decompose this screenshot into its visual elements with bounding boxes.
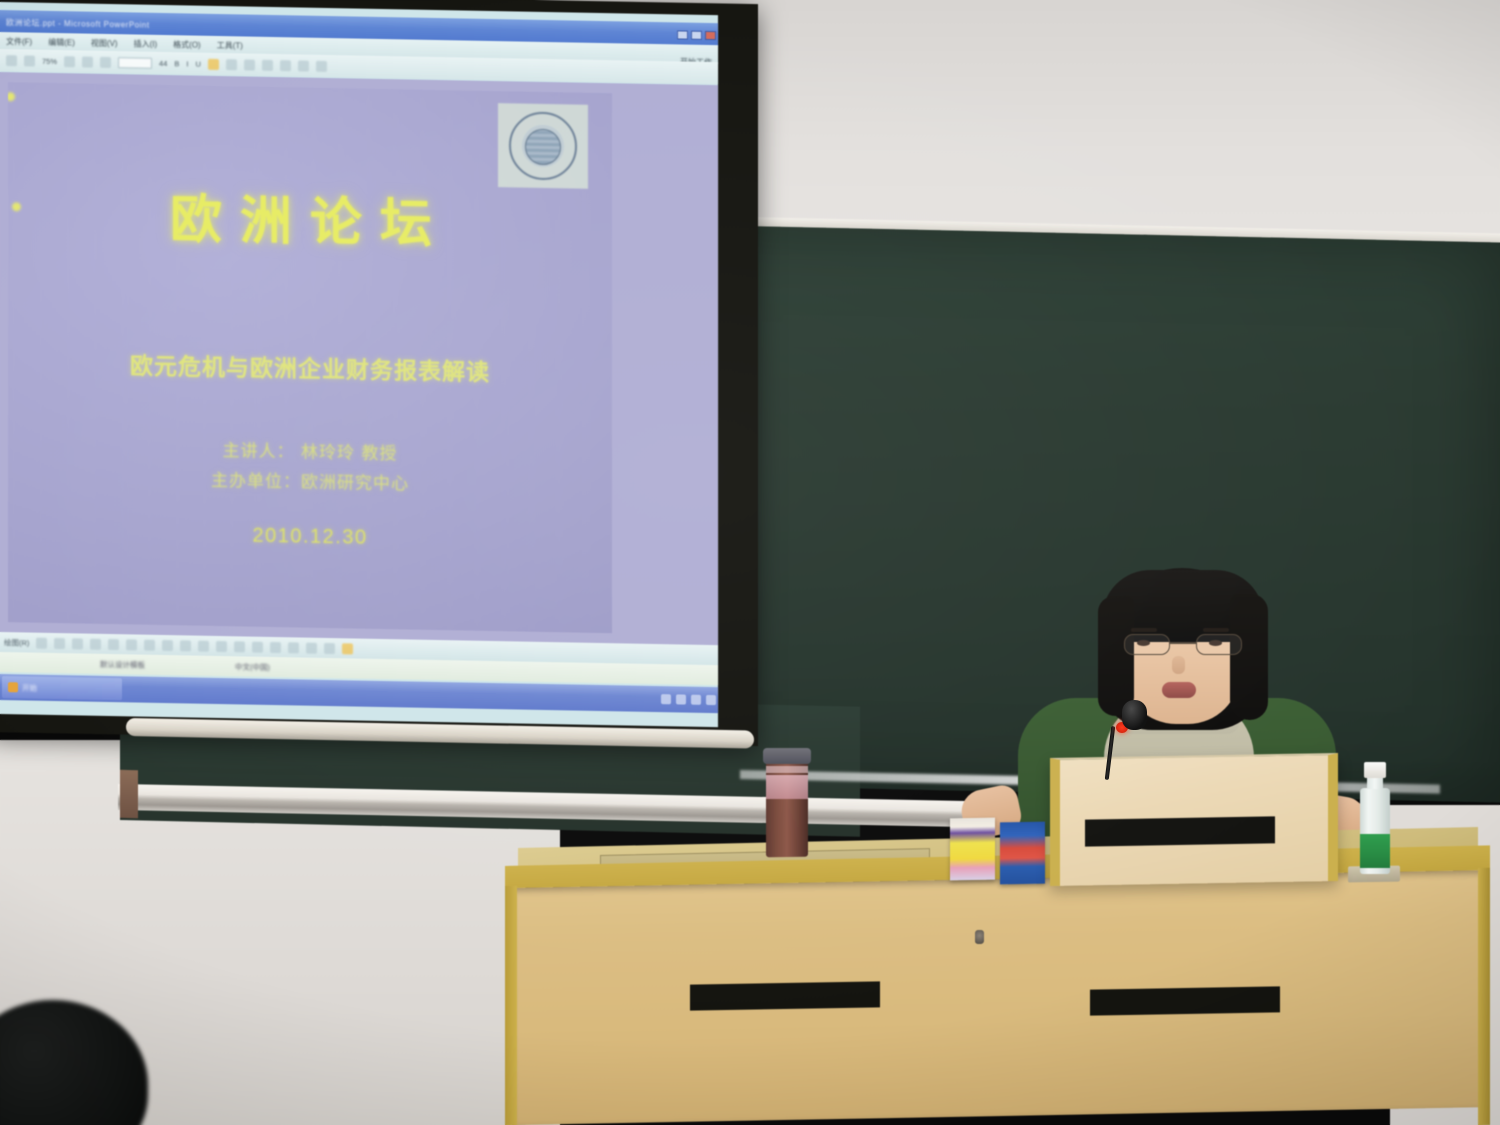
3d-style-icon[interactable]	[342, 643, 353, 654]
italic-button[interactable]: I	[186, 59, 188, 68]
line-icon[interactable]	[72, 638, 83, 649]
open-icon[interactable]	[24, 55, 35, 66]
bottle-label	[1360, 834, 1390, 868]
start-button[interactable]: 开始	[2, 676, 122, 700]
zoom-level[interactable]: 75%	[42, 56, 57, 65]
slide-subtitle: 欧元危机与欧洲企业财务报表解读	[8, 344, 612, 389]
menu-file[interactable]: 文件(F)	[6, 36, 32, 47]
lecture-hall-photo: 欧洲论坛.ppt - Microsoft PowerPoint 文件(F) 编辑…	[0, 0, 1500, 1125]
glasses-bridge	[1170, 642, 1196, 644]
system-tray[interactable]	[661, 694, 716, 705]
lens-left	[1124, 634, 1170, 655]
status-template: 默认设计模板	[100, 658, 145, 670]
chart-icon[interactable]	[100, 56, 111, 67]
shadow-style-icon[interactable]	[324, 642, 335, 653]
thermos-lid	[763, 748, 811, 764]
desk-edge-left	[505, 886, 517, 1125]
network-icon[interactable]	[691, 695, 701, 705]
redo-icon[interactable]	[82, 56, 93, 67]
wordart-icon[interactable]	[162, 639, 173, 650]
slide-organizer-line: 主办单位：欧洲研究中心	[8, 462, 612, 498]
volume-icon[interactable]	[676, 694, 686, 704]
menu-edit[interactable]: 编辑(E)	[48, 37, 75, 48]
diagram-icon[interactable]	[180, 640, 191, 651]
shadow-button[interactable]	[208, 58, 219, 69]
hair-side-right	[1230, 594, 1268, 720]
picture-icon[interactable]	[216, 640, 227, 651]
thermos-upper-band	[766, 766, 808, 773]
oval-icon[interactable]	[126, 639, 137, 650]
desk-handle-right[interactable]	[1090, 986, 1280, 1015]
fill-color-icon[interactable]	[234, 641, 245, 652]
menu-format[interactable]: 格式(O)	[173, 39, 201, 51]
chalk-rail-bracket	[120, 770, 138, 818]
dash-style-icon[interactable]	[306, 642, 317, 653]
eyebrow-left	[1131, 628, 1157, 632]
autoshapes-icon[interactable]	[54, 637, 65, 648]
lens-right	[1196, 634, 1242, 655]
desk-lock-icon[interactable]	[975, 930, 984, 944]
desk-front-panel	[512, 870, 1484, 1125]
bottle-cap	[1364, 762, 1386, 778]
bold-button[interactable]: B	[174, 59, 179, 68]
globe-seal-icon	[509, 111, 577, 180]
desk-handle-left[interactable]	[690, 981, 880, 1010]
university-seal-logo	[498, 103, 588, 189]
new-slide-icon[interactable]	[316, 60, 327, 71]
nose	[1172, 656, 1185, 674]
ppt-window-title: 欧洲论坛.ppt - Microsoft PowerPoint	[6, 17, 150, 31]
font-name-box[interactable]	[118, 57, 152, 69]
draw-menu[interactable]: 绘图(R)	[4, 637, 29, 648]
font-color-icon[interactable]	[270, 641, 281, 652]
new-icon[interactable]	[6, 55, 17, 66]
align-center-icon[interactable]	[244, 59, 255, 70]
font-size-box[interactable]: 44	[159, 58, 167, 67]
eyeglasses-icon	[1122, 634, 1244, 656]
mouth	[1162, 682, 1196, 698]
select-icon[interactable]	[36, 637, 47, 648]
window-controls[interactable]	[677, 30, 716, 40]
design-icon[interactable]	[298, 60, 309, 71]
microphone-head	[1122, 700, 1147, 730]
maximize-icon[interactable]	[691, 30, 702, 39]
projected-desktop: 欧洲论坛.ppt - Microsoft PowerPoint 文件(F) 编辑…	[0, 2, 718, 727]
clipart-icon[interactable]	[198, 640, 209, 651]
hair-side-left	[1098, 596, 1134, 716]
menu-insert[interactable]: 插入(I)	[134, 38, 158, 49]
slide-date: 2010.12.30	[8, 520, 612, 554]
minimize-icon[interactable]	[677, 30, 688, 39]
start-label: 开始	[22, 682, 37, 693]
ime-icon[interactable]	[661, 694, 671, 704]
status-language: 中文(中国)	[235, 661, 270, 673]
bullets-icon[interactable]	[262, 59, 273, 70]
snack-box-yellow	[950, 818, 995, 881]
close-icon[interactable]	[705, 30, 716, 39]
align-left-icon[interactable]	[226, 59, 237, 70]
podium-slot	[1085, 816, 1275, 846]
arrow-icon[interactable]	[90, 638, 101, 649]
desk-edge-right	[1478, 868, 1490, 1125]
snack-box-blue	[1000, 822, 1045, 885]
menu-view[interactable]: 视图(V)	[91, 38, 118, 49]
line-style-icon[interactable]	[288, 642, 299, 653]
slide-title: 欧洲论坛	[8, 174, 612, 260]
slide-edit-area[interactable]: 欧洲论坛 欧元危机与欧洲企业财务报表解读 主讲人： 林玲玲 教授 主办单位：欧洲…	[0, 72, 718, 645]
water-bottle	[1358, 762, 1392, 874]
clock-icon	[706, 695, 716, 705]
line-color-icon[interactable]	[252, 641, 263, 652]
slide-presenter-line: 主讲人： 林玲玲 教授	[8, 432, 612, 468]
rectangle-icon[interactable]	[108, 638, 119, 649]
underline-button[interactable]: U	[195, 59, 200, 68]
eyebrow-right	[1203, 628, 1229, 632]
bottle-neck	[1367, 777, 1383, 789]
windows-logo-icon	[8, 682, 18, 692]
increase-font-icon[interactable]	[280, 60, 291, 71]
thermos-label-band	[766, 775, 808, 799]
undo-icon[interactable]	[64, 56, 75, 67]
title-slide[interactable]: 欧洲论坛 欧元危机与欧洲企业财务报表解读 主讲人： 林玲玲 教授 主办单位：欧洲…	[8, 82, 612, 633]
textbox-icon[interactable]	[144, 639, 155, 650]
menu-tools[interactable]: 工具(T)	[217, 40, 243, 51]
